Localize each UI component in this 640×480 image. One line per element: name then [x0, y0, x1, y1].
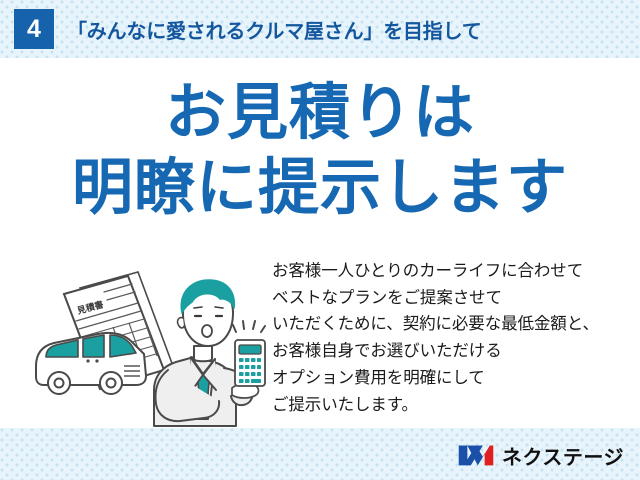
brand-logo: ネクステージ — [457, 440, 624, 470]
body-copy-line-2: ベストなプランをご提案させて — [272, 285, 622, 312]
nextage-n-mark-icon — [457, 442, 495, 468]
promo-banner: 4 「みんなに愛されるクルマ屋さん」を目指して お見積りは 明瞭に提示します 見… — [0, 0, 640, 480]
illustration-svg: 見積書 — [28, 258, 273, 428]
header: 4 「みんなに愛されるクルマ屋さん」を目指して — [0, 0, 640, 58]
body-copy-line-4: お客様自身でお選びいただける — [272, 338, 622, 365]
calculator-display — [239, 345, 261, 354]
step-number-badge: 4 — [14, 9, 54, 49]
body-copy-line-5: オプション費用を明確にして — [272, 365, 622, 392]
header-title: 「みんなに愛されるクルマ屋さん」を目指して — [67, 15, 482, 44]
headline-line-2: 明瞭に提示します — [0, 157, 640, 218]
calculator — [235, 340, 265, 386]
body-copy-line-1: お客様一人ひとりのカーライフに合わせて — [272, 258, 622, 285]
brand-name: ネクステージ — [502, 441, 624, 470]
illustration-salesperson-estimate: 見積書 — [28, 258, 273, 428]
headline-line-1: お見積りは — [0, 82, 640, 143]
headline: お見積りは 明瞭に提示します — [0, 82, 640, 218]
sparkle-lines — [233, 321, 265, 332]
body-copy-line-6: ご提示いたします。 — [272, 392, 622, 419]
illustration-van — [36, 333, 146, 394]
body-copy-line-3: いただくために、契約に必要な最低金額と、 — [272, 311, 622, 338]
body-copy: お客様一人ひとりのカーライフに合わせて ベストなプランをご提案させて いただくた… — [272, 258, 622, 418]
